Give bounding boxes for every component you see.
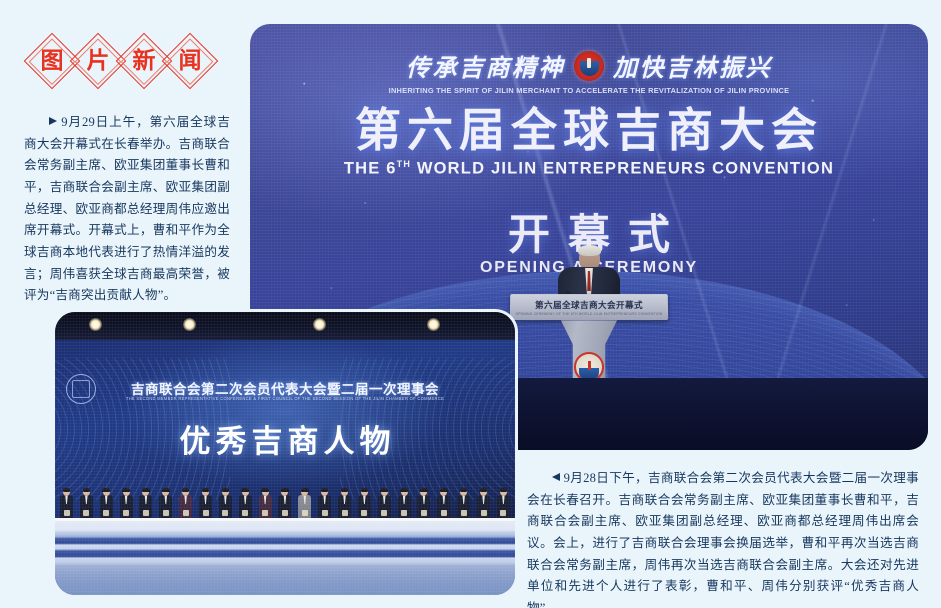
honoree-figure <box>436 488 451 518</box>
section-header-char-2: 片 <box>87 50 110 73</box>
honoree-row <box>59 480 511 518</box>
honoree-trophy-icon <box>143 510 149 516</box>
honoree-figure <box>178 488 193 518</box>
honoree-hair <box>241 488 249 492</box>
main-title-ordinal-suffix: TH <box>397 159 411 169</box>
honoree-trophy-icon <box>262 510 268 516</box>
honoree-hair <box>440 488 448 492</box>
honoree-figure <box>496 488 511 518</box>
stage-lamp-icon <box>89 318 102 331</box>
podium: 第六届全球吉商大会开幕式 OPENING CEREMONY OF THE 6TH… <box>513 294 665 390</box>
jilin-chamber-emblem-icon <box>574 51 604 81</box>
honoree-trophy-icon <box>64 510 70 516</box>
honoree-figure <box>238 488 253 518</box>
awards-stage-steps <box>55 518 515 595</box>
honoree-figure <box>138 488 153 518</box>
speaker-hair <box>578 245 601 256</box>
podium-sign-english: OPENING CEREMONY OF THE 6TH WORLD JILIN … <box>515 312 662 316</box>
honoree-figure <box>59 488 74 518</box>
honoree-figure <box>258 488 273 518</box>
honoree-hair <box>102 488 110 492</box>
awards-headline-chinese: 优秀吉商人物 <box>55 416 515 461</box>
slogan-english-text: INHERITING THE SPIRIT OF JILIN MERCHANT … <box>389 86 790 95</box>
article-left-text: 9月29日上午，第六届全球吉商大会开幕式在长春举办。吉商联合会常务副主席、欧亚集… <box>24 115 230 302</box>
awards-led-screen: 吉商联合会第二次会员代表大会暨二届一次理事会 THE SECOND MEMBER… <box>55 340 515 518</box>
honoree-figure <box>198 488 213 518</box>
honoree-hair <box>361 488 369 492</box>
honoree-hair <box>500 488 508 492</box>
honoree-figure <box>79 488 94 518</box>
honoree-trophy-icon <box>203 510 209 516</box>
section-header-diamond-4: 闻 <box>162 33 218 89</box>
honoree-hair <box>341 488 349 492</box>
stage-lamp-icon <box>313 318 326 331</box>
honoree-figure <box>158 488 173 518</box>
honoree-trophy-icon <box>461 510 467 516</box>
triangle-left-icon <box>552 473 560 481</box>
article-right-body: 9月28日下午，吉商联合会第二次会员代表大会暨二届一次理事会在长春召开。吉商联合… <box>527 468 919 608</box>
honoree-trophy-icon <box>342 510 348 516</box>
honoree-hair <box>63 488 71 492</box>
honoree-trophy-icon <box>242 510 248 516</box>
honoree-figure <box>337 488 352 518</box>
honoree-figure <box>99 488 114 518</box>
honoree-figure <box>277 488 292 518</box>
honoree-figure <box>317 488 332 518</box>
honoree-trophy-icon <box>361 510 367 516</box>
honoree-trophy-icon <box>441 510 447 516</box>
photo-awards-ceremony: 吉商联合会第二次会员代表大会暨二届一次理事会 THE SECOND MEMBER… <box>55 312 515 595</box>
honoree-hair <box>480 488 488 492</box>
article-right-text: 9月28日下午，吉商联合会第二次会员代表大会暨二届一次理事会在长春召开。吉商联合… <box>527 471 919 608</box>
honoree-hair <box>222 488 230 492</box>
article-right: 9月28日下午，吉商联合会第二次会员代表大会暨二届一次理事会在长春召开。吉商联合… <box>527 468 919 608</box>
honoree-hair <box>182 488 190 492</box>
main-title-english-pre: THE 6 <box>344 159 397 177</box>
honoree-trophy-icon <box>103 510 109 516</box>
honoree-figure <box>218 488 233 518</box>
honoree-hair <box>83 488 91 492</box>
honoree-trophy-icon <box>322 510 328 516</box>
section-header-picture-news: 图 片 新 闻 <box>24 33 208 89</box>
honoree-figure <box>476 488 491 518</box>
banner-slogan-line: 传承吉商精神 加快吉林振兴 <box>406 48 772 83</box>
stage-lamp-icon <box>427 318 440 331</box>
honoree-figure <box>357 488 372 518</box>
triangle-right-icon <box>49 117 57 125</box>
honoree-trophy-icon <box>123 510 129 516</box>
awards-title-chinese: 吉商联合会第二次会员代表大会暨二届一次理事会 <box>55 378 515 398</box>
honoree-trophy-icon <box>481 510 487 516</box>
honoree-hair <box>122 488 130 492</box>
honoree-trophy-icon <box>163 510 169 516</box>
section-header-char-4: 闻 <box>179 50 202 73</box>
honoree-trophy-icon <box>282 510 288 516</box>
honoree-trophy-icon <box>381 510 387 516</box>
honoree-hair <box>460 488 468 492</box>
article-left: 9月29日上午，第六届全球吉商大会开幕式在长春举办。吉商联合会常务副主席、欧亚集… <box>24 112 230 333</box>
honoree-figure <box>456 488 471 518</box>
main-title-english: THE 6TH WORLD JILIN ENTREPRENEURS CONVEN… <box>250 159 928 179</box>
honoree-figure <box>416 488 431 518</box>
main-title-english-post: WORLD JILIN ENTREPRENEURS CONVENTION <box>411 159 834 177</box>
honoree-trophy-icon <box>222 510 228 516</box>
honoree-hair <box>261 488 269 492</box>
honoree-trophy-icon <box>83 510 89 516</box>
honoree-figure <box>397 488 412 518</box>
honoree-hair <box>321 488 329 492</box>
main-title-chinese: 第六届全球吉商大会 <box>250 106 928 156</box>
podium-sign: 第六届全球吉商大会开幕式 OPENING CEREMONY OF THE 6TH… <box>510 294 668 320</box>
newspaper-page: 图 片 新 闻 9月29日上午，第六届全球吉商大会开幕式在长春举办。吉商联合会常… <box>0 0 941 608</box>
honoree-hair <box>162 488 170 492</box>
podium-sign-chinese: 第六届全球吉商大会开幕式 <box>535 299 643 311</box>
honoree-trophy-icon <box>421 510 427 516</box>
honoree-hair <box>281 488 289 492</box>
honoree-trophy-icon <box>500 510 506 516</box>
honoree-trophy-icon <box>183 510 189 516</box>
honoree-figure <box>377 488 392 518</box>
honoree-hair <box>420 488 428 492</box>
stage-edge <box>55 518 515 521</box>
slogan-left-text: 传承吉商精神 <box>406 48 565 83</box>
awards-title-english: THE SECOND MEMBER REPRESENTATIVE CONFERE… <box>55 396 515 401</box>
honoree-trophy-icon <box>302 510 308 516</box>
honoree-trophy-icon <box>401 510 407 516</box>
lighting-truss <box>55 312 515 340</box>
section-header-char-1: 图 <box>41 50 64 73</box>
honoree-hair <box>202 488 210 492</box>
honoree-hair <box>301 488 309 492</box>
honoree-hair <box>142 488 150 492</box>
banner-slogan: 传承吉商精神 加快吉林振兴 INHERITING THE SPIRIT OF J… <box>250 48 928 95</box>
honoree-hair <box>380 488 388 492</box>
section-header-char-3: 新 <box>133 50 156 73</box>
slogan-right-text: 加快吉林振兴 <box>613 48 772 83</box>
honoree-hair <box>400 488 408 492</box>
stage-lamp-icon <box>183 318 196 331</box>
honoree-figure <box>297 488 312 518</box>
article-left-body: 9月29日上午，第六届全球吉商大会开幕式在长春举办。吉商联合会常务副主席、欧亚集… <box>24 112 230 307</box>
honoree-figure <box>119 488 134 518</box>
banner-main-title: 第六届全球吉商大会 THE 6TH WORLD JILIN ENTREPRENE… <box>250 106 928 178</box>
